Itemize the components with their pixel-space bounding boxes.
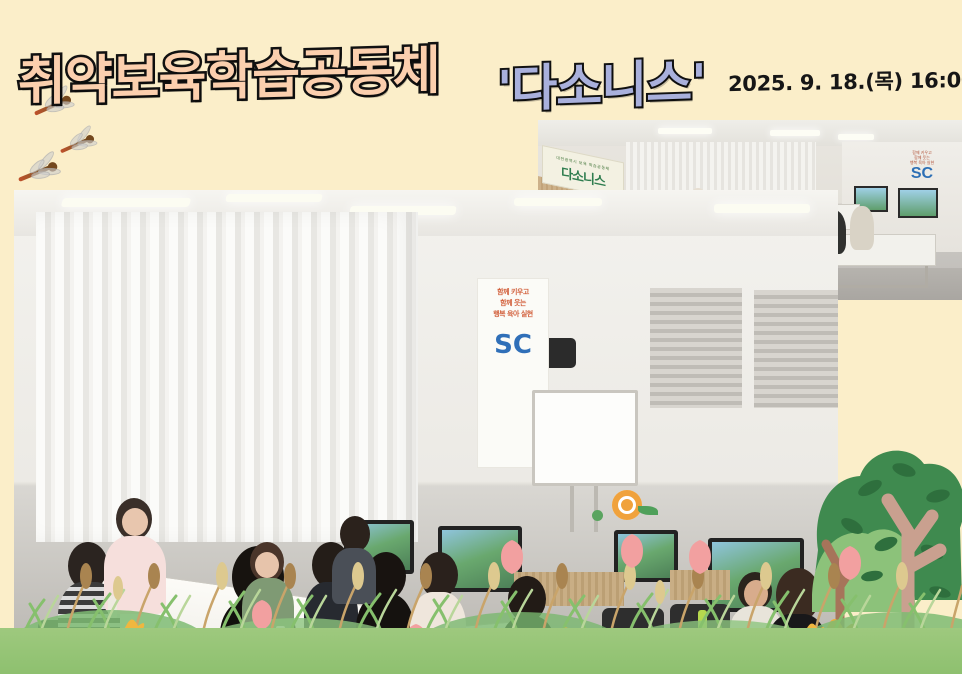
facilitator-face bbox=[122, 508, 148, 536]
window-blinds bbox=[650, 288, 742, 408]
wall-banner-line-2: 함께 웃는 bbox=[500, 298, 526, 309]
wall-banner-logo: SC bbox=[494, 330, 532, 360]
wall-logo-caption: 함께 키우고함께 웃는행복 육아 실현 bbox=[910, 150, 934, 165]
dragonfly-wing bbox=[31, 170, 51, 179]
flower-leaf bbox=[638, 506, 658, 515]
vertical-blind-curtain bbox=[36, 212, 418, 542]
ceiling-light bbox=[714, 204, 810, 213]
wall-logo-mark: SC bbox=[911, 165, 933, 183]
ceiling-light bbox=[61, 198, 192, 207]
ceiling-light bbox=[658, 128, 712, 134]
wall-dot-decal bbox=[592, 510, 603, 521]
whiteboard-stand bbox=[570, 486, 598, 532]
participant bbox=[850, 206, 874, 250]
cattail-heads bbox=[80, 563, 840, 589]
wall-monitor bbox=[898, 188, 938, 218]
ceiling-light bbox=[838, 134, 874, 140]
poster-title-quoted: '다소니스' bbox=[497, 42, 706, 121]
ceiling-light bbox=[514, 198, 602, 206]
decor-grass-border bbox=[0, 534, 962, 674]
poster-canvas: 함께 키우고함께 웃는행복 육아 실현 SC 대전광역시 보육 학습공동체 다소… bbox=[0, 0, 962, 674]
flower-petals bbox=[612, 490, 642, 520]
wall-banner-line-1: 함께 키우고 bbox=[497, 287, 529, 298]
grass-base bbox=[0, 628, 962, 674]
ceiling-light bbox=[770, 130, 820, 136]
poster-title-main: 취약보육학습공동체 bbox=[18, 28, 440, 115]
wall-banner-line-3: 행복 육아 실현 bbox=[493, 309, 533, 320]
poster-date: 2025. 9. 18.(목) 16:00 bbox=[728, 64, 962, 98]
ceiling-light bbox=[225, 194, 323, 202]
whiteboard bbox=[532, 390, 638, 486]
wall-flower-decal bbox=[612, 490, 642, 520]
